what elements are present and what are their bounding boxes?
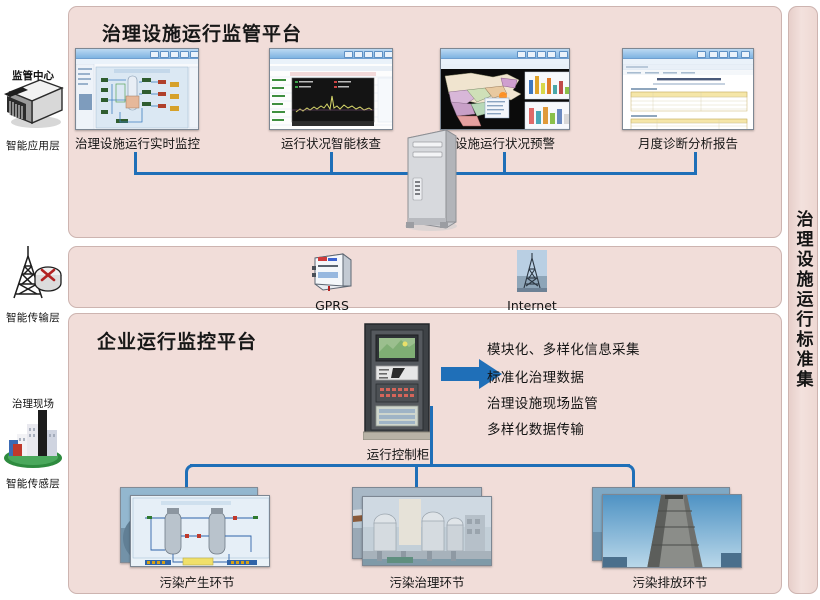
connector-app4-vertical	[694, 152, 697, 174]
app-caption-intelligent-check: 运行状况智能核查	[258, 133, 404, 152]
app-thumbnail-status-alert[interactable]	[440, 48, 570, 130]
internet-tower-icon	[517, 250, 547, 292]
standards-collection-label: 治理设施运行标准集	[791, 210, 816, 390]
app-thumbnail-intelligent-check[interactable]	[269, 48, 393, 130]
app-thumbnail-monthly-report[interactable]	[622, 48, 754, 130]
gprs-label: GPRS	[300, 298, 364, 313]
rail-label-sensing-layer: 智能传感层	[0, 476, 66, 491]
supervision-platform-title: 治理设施运行监管平台	[102, 19, 302, 46]
scada-process-diagram	[76, 64, 198, 129]
rail-icon-caption-sensing: 治理现场	[0, 398, 66, 410]
server-tower-icon	[400, 126, 460, 232]
connector-right-bus	[445, 172, 697, 175]
gis-map-with-bar-charts	[441, 64, 569, 129]
window-titlebar	[441, 49, 569, 59]
feature-item-4: 多样化数据传输	[487, 418, 584, 438]
dark-trend-chart	[270, 64, 392, 129]
window-titlebar	[76, 49, 198, 59]
standards-collection-strip: 治理设施运行标准集	[788, 6, 818, 594]
internet-label: Internet	[500, 298, 564, 313]
connector-app1-vertical	[134, 152, 137, 174]
gprs-node: GPRS	[300, 252, 364, 313]
layer-rail: 监管中心 智能应用层	[0, 0, 66, 600]
stage-photo-pollution-emission[interactable]	[602, 494, 742, 568]
control-cabinet-icon[interactable]	[363, 322, 431, 440]
rail-label-transmission-layer: 智能传输层	[0, 310, 66, 325]
rail-item-sensing-layer: 治理现场 智能传感层	[0, 398, 66, 491]
connector-app3-vertical	[503, 152, 506, 174]
control-cabinet-caption: 运行控制柜	[340, 444, 456, 463]
stage-caption-pollution-generation: 污染产生环节	[122, 572, 272, 591]
diagram-canvas: 监管中心 智能应用层	[0, 0, 820, 600]
stage-photo-pollution-generation[interactable]	[130, 495, 270, 567]
gprs-modem-icon	[309, 252, 355, 292]
internet-node: Internet	[500, 250, 564, 313]
connector-cabinet-vertical	[430, 406, 433, 466]
feature-item-3: 治理设施现场监管	[487, 392, 598, 412]
connector-bottom-bus	[190, 464, 630, 467]
app-caption-monthly-report: 月度诊断分析报告	[620, 133, 756, 152]
stage-caption-pollution-emission: 污染排放环节	[592, 572, 748, 591]
stage-caption-pollution-treatment: 污染治理环节	[352, 572, 502, 591]
rail-icon-caption-application: 监管中心	[0, 70, 66, 82]
stage-photo-pollution-treatment[interactable]	[362, 496, 492, 566]
rail-item-application-layer: 监管中心 智能应用层	[0, 70, 66, 153]
report-tables	[623, 64, 753, 129]
treatment-site-city-icon	[0, 410, 66, 470]
window-titlebar	[270, 49, 392, 59]
feature-item-2: 标准化治理数据	[487, 366, 584, 386]
enterprise-platform-title: 企业运行监控平台	[97, 327, 257, 354]
connector-app2-vertical	[330, 152, 333, 174]
transmission-panel	[68, 246, 782, 308]
app-caption-realtime-monitor: 治理设施运行实时监控	[60, 133, 215, 152]
transmission-tower-icon	[0, 242, 66, 304]
window-titlebar	[623, 49, 753, 59]
feature-item-1: 模块化、多样化信息采集	[487, 338, 640, 358]
connector-left-bus	[134, 172, 414, 175]
rail-label-application-layer: 智能应用层	[0, 138, 66, 153]
rail-item-transmission-layer: 智能传输层	[0, 242, 66, 325]
app-thumbnail-realtime-monitor[interactable]	[75, 48, 199, 130]
